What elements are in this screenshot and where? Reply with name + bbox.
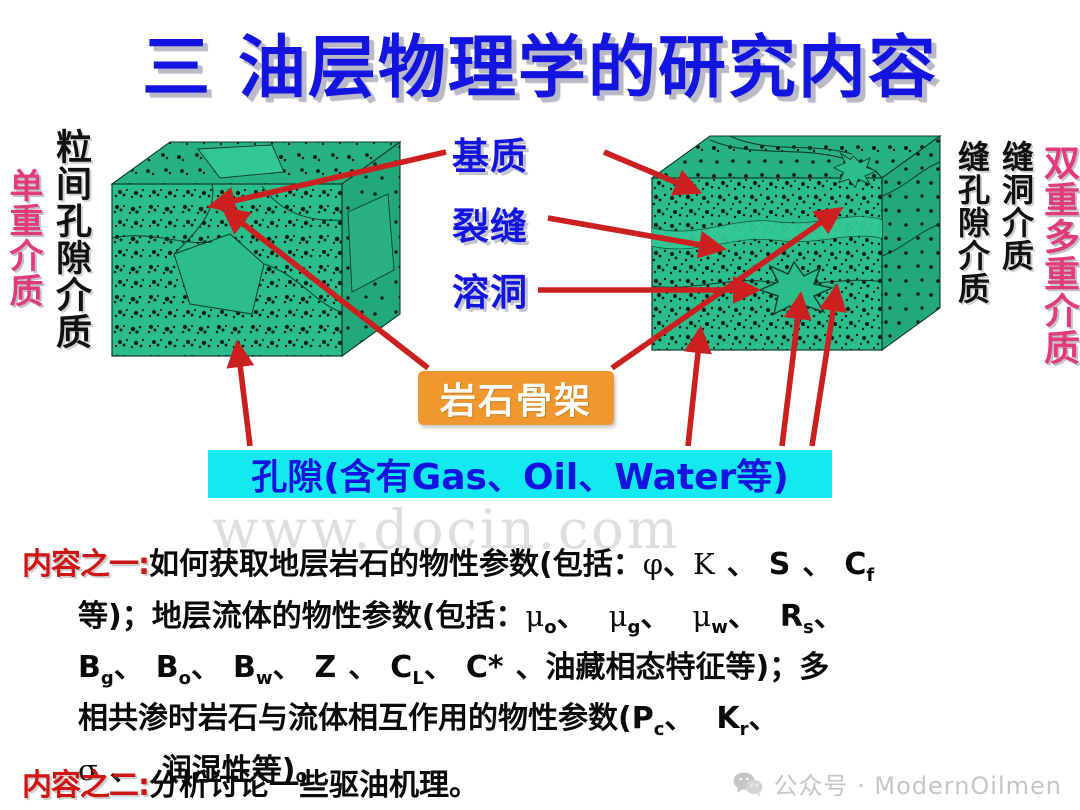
sep: 、 — [348, 650, 378, 685]
symbol-CL: C — [390, 650, 412, 685]
rock-skeleton-label: 岩石骨架 — [440, 372, 592, 424]
label-intergranular-pore-medium: 粒间孔隙介质 — [52, 128, 88, 350]
symbol-mu-o-sub: o — [544, 617, 556, 638]
page-title: 三 油层物理学的研究内容 — [0, 12, 1080, 111]
label-fracture-pore-medium: 缝孔隙介质 — [956, 140, 988, 305]
symbol-phi: φ — [643, 547, 663, 581]
content-item-two-text: 分析讨论一些驱油机理。 — [149, 768, 479, 803]
sep: 、 — [191, 650, 221, 685]
symbol-Bw: B — [233, 650, 256, 685]
symbol-Rs-sub: s — [803, 617, 814, 638]
slide-root: 三 油层物理学的研究内容 单重介质 粒间孔隙介质 双重多重介质 缝洞介质 缝孔隙… — [0, 0, 1080, 810]
content-line-1: 内容之一:如何获取地层岩石的物性参数(包括：φ、K、S、Cf — [22, 544, 1070, 596]
callout-vug: 溶洞 — [452, 262, 528, 316]
label-dual-multiple-medium: 双重多重介质 — [1040, 144, 1076, 366]
symbol-mu-w-sub: w — [711, 617, 728, 638]
symbol-Bg: B — [78, 650, 101, 685]
symbol-K: K — [693, 547, 715, 581]
content-line-2: 等)；地层流体的物性参数(包括：μo、μg、μw、Rs、 — [22, 596, 1070, 648]
brand-text: 公众号 · ModernOilmen — [773, 766, 1062, 801]
rock-skeleton-box: 岩石骨架 — [418, 371, 614, 425]
symbol-Bw-sub: w — [256, 668, 273, 689]
sep: 、 — [424, 650, 454, 685]
content-line2-text: 等)；地层流体的物性参数(包括： — [78, 599, 525, 634]
sep: 、 — [516, 650, 546, 685]
sep: 、 — [727, 547, 757, 582]
content-line1-text: 如何获取地层岩石的物性参数(包括： — [149, 547, 643, 582]
sep: 、 — [814, 599, 844, 634]
pore-fluids-box: 孔隙(含有Gas、Oil、Water等) — [208, 450, 832, 498]
symbol-CL-sub: L — [412, 668, 423, 689]
symbol-Z: Z — [315, 650, 337, 685]
symbol-mu-g: μ — [609, 599, 628, 633]
sep: 、 — [664, 701, 694, 736]
symbol-Pc-sub: c — [654, 719, 665, 740]
symbol-S: S — [769, 547, 791, 582]
sep: 、 — [802, 547, 832, 582]
content-item-one-label: 内容之一: — [22, 547, 149, 582]
intergranular-pore-medium-block — [112, 142, 400, 370]
callout-fracture: 裂缝 — [452, 196, 528, 250]
sep: 、 — [749, 701, 779, 736]
symbol-Cf-sub: f — [866, 565, 874, 586]
content-line4-text: 相共渗时岩石与流体相互作用的物性参数( — [78, 701, 632, 736]
brand-footer: 公众号 · ModernOilmen — [733, 766, 1062, 801]
sep: 、 — [114, 650, 144, 685]
symbol-mu-o: μ — [525, 599, 544, 633]
sep: 、 — [663, 547, 693, 582]
sep: 、 — [557, 599, 587, 634]
symbol-Bg-sub: g — [101, 668, 114, 689]
symbol-Kr-sub: r — [740, 719, 749, 740]
sep: 、 — [273, 650, 303, 685]
symbol-Pc: P — [632, 701, 654, 736]
label-single-medium: 单重介质 — [6, 168, 40, 308]
label-fracture-vug-medium: 缝洞介质 — [1000, 140, 1032, 272]
sep: 、 — [640, 599, 670, 634]
symbol-Bo-sub: o — [179, 668, 191, 689]
content-line-3: Bg、Bo、Bw、Z、CL、C*、油藏相态特征等)；多 — [22, 648, 1070, 699]
content-line3-tail: 油藏相态特征等)；多 — [546, 650, 830, 685]
sep: 、 — [728, 599, 758, 634]
content-item-two: 内容之二:分析讨论一些驱油机理。 — [22, 760, 722, 804]
wechat-icon — [733, 771, 763, 797]
fracture-vug-medium-block — [652, 136, 940, 364]
symbol-mu-w: μ — [692, 599, 711, 633]
symbol-Cf: C — [844, 547, 866, 582]
content-line-4: 相共渗时岩石与流体相互作用的物性参数(Pc、Kr、 — [22, 699, 1070, 750]
content-item-two-label: 内容之二: — [22, 768, 149, 803]
symbol-Kr: K — [716, 701, 739, 736]
symbol-Cstar: C* — [466, 650, 504, 685]
symbol-mu-g-sub: g — [628, 617, 641, 638]
content-body: 内容之一:如何获取地层岩石的物性参数(包括：φ、K、S、Cf 等)；地层流体的物… — [22, 544, 1070, 791]
pore-fluids-label: 孔隙(含有Gas、Oil、Water等) — [251, 448, 789, 500]
symbol-Rs: R — [780, 599, 803, 634]
callout-matrix: 基质 — [452, 126, 528, 180]
symbol-Bo: B — [156, 650, 179, 685]
